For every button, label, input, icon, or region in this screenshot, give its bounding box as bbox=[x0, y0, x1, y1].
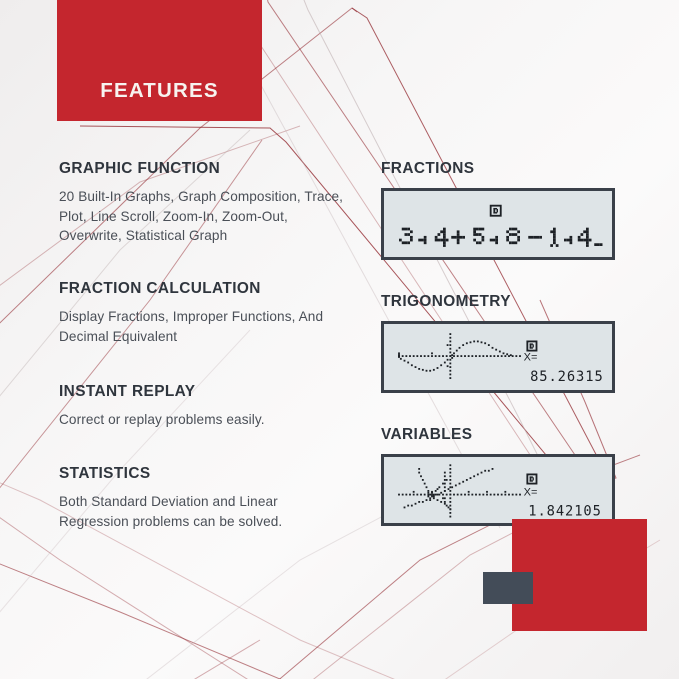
poster-canvas: FEATURES GRAPHIC FUNCTION 20 Built-In Gr… bbox=[0, 0, 679, 679]
feature-title: GRAPHIC FUNCTION bbox=[59, 160, 349, 178]
lcd-value: 85.26315 bbox=[530, 369, 604, 385]
decorative-slate-block bbox=[483, 572, 533, 604]
feature-body: Display Fractions, Improper Functions, A… bbox=[59, 307, 349, 346]
feature-statistics: STATISTICS Both Standard Deviation and L… bbox=[59, 465, 349, 531]
feature-graphic-function: GRAPHIC FUNCTION 20 Built-In Graphs, Gra… bbox=[59, 160, 349, 246]
feature-title: TRIGONOMETRY bbox=[381, 293, 626, 311]
mode-indicator-d bbox=[526, 474, 537, 485]
feature-title: INSTANT REPLAY bbox=[59, 383, 349, 401]
lcd-screen-variables: X= 1.842105 bbox=[381, 454, 615, 526]
feature-title: FRACTION CALCULATION bbox=[59, 280, 349, 298]
right-feature-column: FRACTIONS bbox=[381, 160, 626, 550]
mode-indicator-d bbox=[526, 341, 537, 352]
trig-graph-plot bbox=[398, 333, 521, 379]
feature-trigonometry: TRIGONOMETRY bbox=[381, 293, 626, 393]
lcd-screen-trigonometry: X= 85.26315 bbox=[381, 321, 615, 393]
lcd-value: 1.842105 bbox=[528, 504, 602, 520]
mode-indicator-d bbox=[490, 205, 502, 217]
feature-title: FRACTIONS bbox=[381, 160, 626, 178]
feature-instant-replay: INSTANT REPLAY Correct or replay problem… bbox=[59, 383, 349, 430]
lcd-content-fractions bbox=[384, 191, 612, 257]
feature-title: VARIABLES bbox=[381, 426, 626, 444]
feature-body: Both Standard Deviation and Linear Regre… bbox=[59, 492, 349, 531]
lcd-expression-dots bbox=[399, 228, 603, 247]
lcd-screen-fractions bbox=[381, 188, 615, 260]
feature-variables: VARIABLES bbox=[381, 426, 626, 526]
feature-body: 20 Built-In Graphs, Graph Composition, T… bbox=[59, 187, 349, 246]
variables-graph-plot bbox=[398, 464, 521, 517]
left-feature-column: GRAPHIC FUNCTION 20 Built-In Graphs, Gra… bbox=[59, 160, 349, 558]
feature-body: Correct or replay problems easily. bbox=[59, 410, 349, 430]
lcd-content-trigonometry: X= 85.26315 bbox=[384, 324, 612, 390]
features-header-block: FEATURES bbox=[57, 0, 262, 121]
lcd-x-label: X= bbox=[524, 487, 538, 499]
feature-title: STATISTICS bbox=[59, 465, 349, 483]
features-title: FEATURES bbox=[57, 79, 262, 103]
lcd-x-label: X= bbox=[524, 352, 538, 364]
feature-fraction-calculation: FRACTION CALCULATION Display Fractions, … bbox=[59, 280, 349, 346]
feature-fractions: FRACTIONS bbox=[381, 160, 626, 260]
lcd-content-variables: X= 1.842105 bbox=[384, 457, 612, 523]
